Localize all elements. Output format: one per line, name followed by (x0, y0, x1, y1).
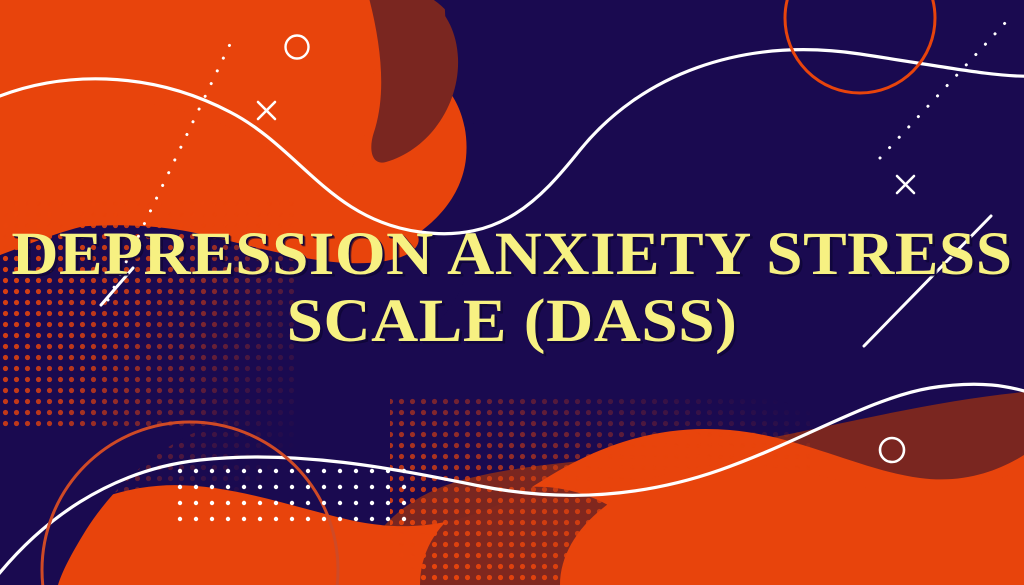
background-artwork (0, 0, 1024, 585)
banner-canvas: DEPRESSION ANXIETY STRESS SCALE (DASS) (0, 0, 1024, 585)
